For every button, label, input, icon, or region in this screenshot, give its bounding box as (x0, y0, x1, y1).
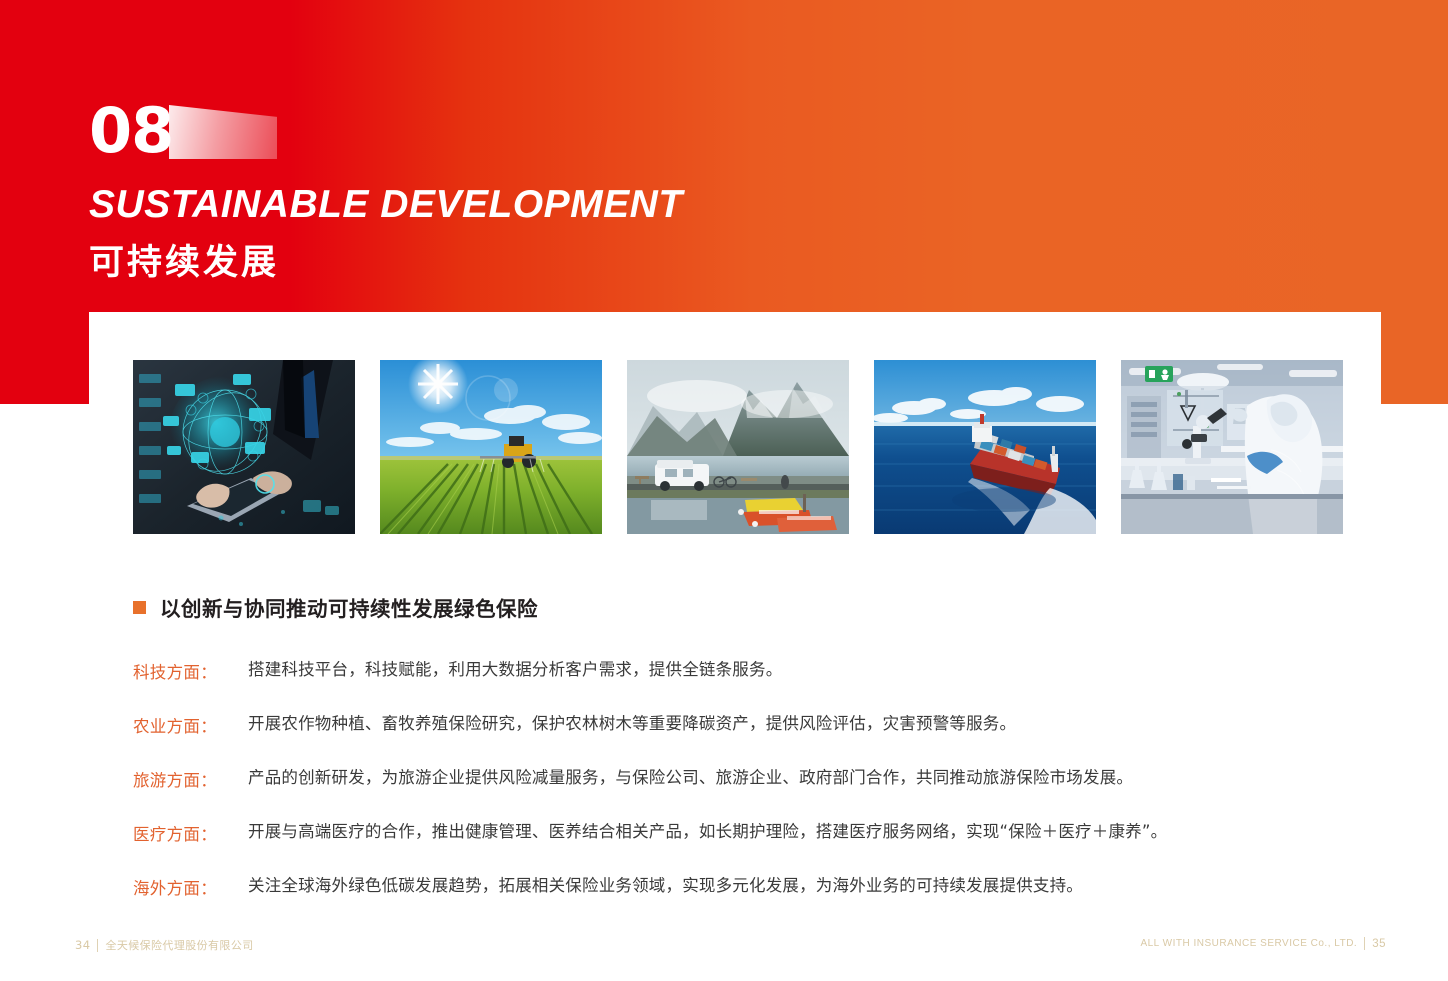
medical-insurance-photo (1121, 360, 1343, 534)
footer-left: 34 全天候保险代理股份有限公司 (75, 937, 254, 953)
footer-divider-left (97, 939, 98, 952)
row-label-technology: 科技方面： (133, 659, 248, 683)
number-flag-shape (169, 105, 277, 159)
footer-page-number-right: 35 (1372, 938, 1386, 950)
square-bullet-icon (133, 601, 146, 614)
detail-list: 科技方面： 搭建科技平台，科技赋能，利用大数据分析客户需求，提供全链条服务。 农… (133, 659, 1333, 899)
section-heading: 以创新与协同推动可持续性发展绿色保险 (160, 592, 538, 622)
row-label-medical: 医疗方面： (133, 821, 248, 845)
marine-insurance-photo (874, 360, 1096, 534)
row-text-agriculture: 开展农作物种植、畜牧养殖保险研究，保护农林树木等重要降碳资产，提供风险评估，灾害… (248, 713, 1016, 735)
tourism-insurance-photo (627, 360, 849, 534)
page-title-en: SUSTAINABLE DEVELOPMENT (89, 183, 789, 227)
list-item: 医疗方面： 开展与高端医疗的合作，推出健康管理、医养结合相关产品，如长期护理险，… (133, 821, 1333, 845)
technology-insurance-photo (133, 360, 355, 534)
row-label-agriculture: 农业方面： (133, 713, 248, 737)
slide-page: 08 SUSTAINABLE DEVELOPMENT 可持续发展 (0, 0, 1448, 981)
footer-divider-right (1364, 937, 1365, 950)
content-body: 以创新与协同推动可持续性发展绿色保险 科技方面： 搭建科技平台，科技赋能，利用大… (133, 592, 1333, 899)
footer-company-cn: 全天候保险代理股份有限公司 (105, 937, 253, 953)
row-text-overseas: 关注全球海外绿色低碳发展趋势，拓展相关保险业务领域，实现多元化发展，为海外业务的… (248, 875, 1083, 897)
image-gallery (133, 360, 1343, 534)
slide-header: 08 SUSTAINABLE DEVELOPMENT 可持续发展 (89, 95, 789, 285)
section-number: 08 (89, 95, 173, 167)
list-item: 海外方面： 关注全球海外绿色低碳发展趋势，拓展相关保险业务领域，实现多元化发展，… (133, 875, 1333, 899)
list-item: 旅游方面： 产品的创新研发，为旅游企业提供风险减量服务，与保险公司、旅游企业、政… (133, 767, 1333, 791)
row-text-technology: 搭建科技平台，科技赋能，利用大数据分析客户需求，提供全链条服务。 (248, 659, 782, 681)
footer-right: ALL WITH INSURANCE SERVICE Co., LTD. 35 (1140, 937, 1386, 950)
footer-page-number-left: 34 (75, 938, 90, 952)
list-item: 科技方面： 搭建科技平台，科技赋能，利用大数据分析客户需求，提供全链条服务。 (133, 659, 1333, 683)
row-label-tourism: 旅游方面： (133, 767, 248, 791)
row-text-medical: 开展与高端医疗的合作，推出健康管理、医养结合相关产品，如长期护理险，搭建医疗服务… (248, 821, 1167, 843)
list-item: 农业方面： 开展农作物种植、畜牧养殖保险研究，保护农林树木等重要降碳资产，提供风… (133, 713, 1333, 737)
section-number-badge: 08 (89, 95, 289, 167)
row-label-overseas: 海外方面： (133, 875, 248, 899)
footer-company-en: ALL WITH INSURANCE SERVICE Co., LTD. (1140, 938, 1357, 949)
page-title-cn: 可持续发展 (89, 234, 789, 285)
agriculture-insurance-photo (380, 360, 602, 534)
row-text-tourism: 产品的创新研发，为旅游企业提供风险减量服务，与保险公司、旅游企业、政府部门合作，… (248, 767, 1133, 789)
section-heading-row: 以创新与协同推动可持续性发展绿色保险 (133, 592, 1333, 622)
